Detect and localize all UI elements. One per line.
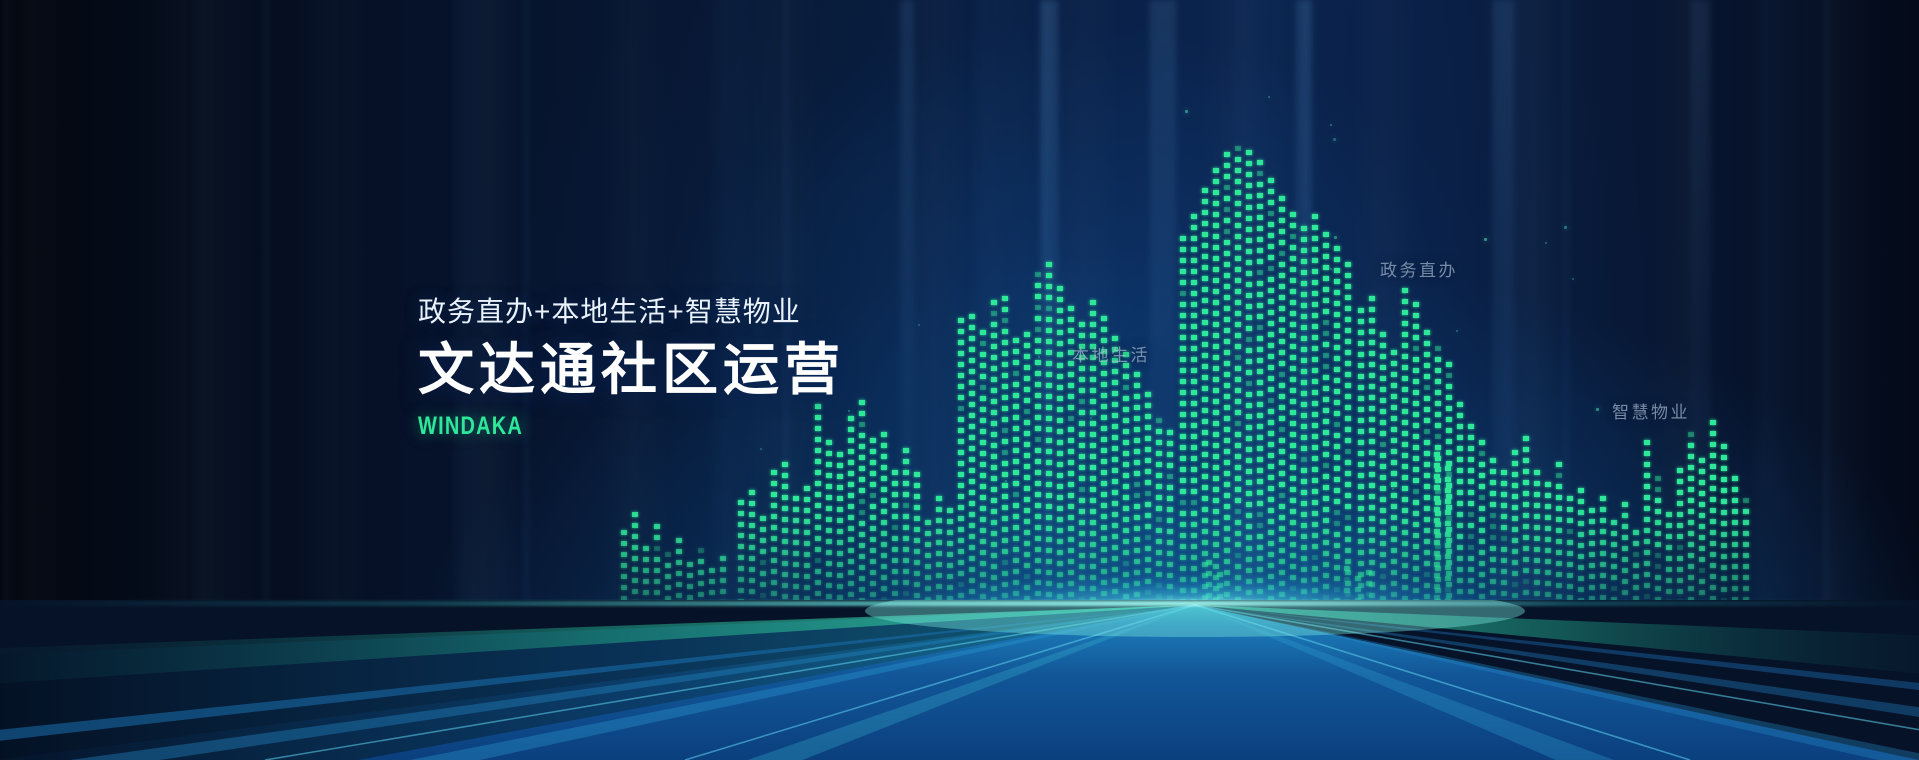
skyline-label-local-life: 本地生活 — [1072, 341, 1150, 366]
skyline-label-smart-property: 智慧物业 — [1612, 398, 1690, 423]
banner-stage: 政务直办+本地生活+智慧物业 文达通社区运营 WINDAKA 政务直办 本地生活… — [0, 0, 1919, 760]
banner-subtitle: 政务直办+本地生活+智慧物业 — [418, 294, 845, 329]
perspective-ground — [0, 600, 1919, 760]
headline-block: 政务直办+本地生活+智慧物业 文达通社区运营 WINDAKA — [418, 294, 845, 441]
skyline-label-government: 政务直办 — [1380, 256, 1458, 281]
banner-title: 文达通社区运营 — [418, 337, 845, 403]
brand-wordmark: WINDAKA — [418, 412, 760, 441]
